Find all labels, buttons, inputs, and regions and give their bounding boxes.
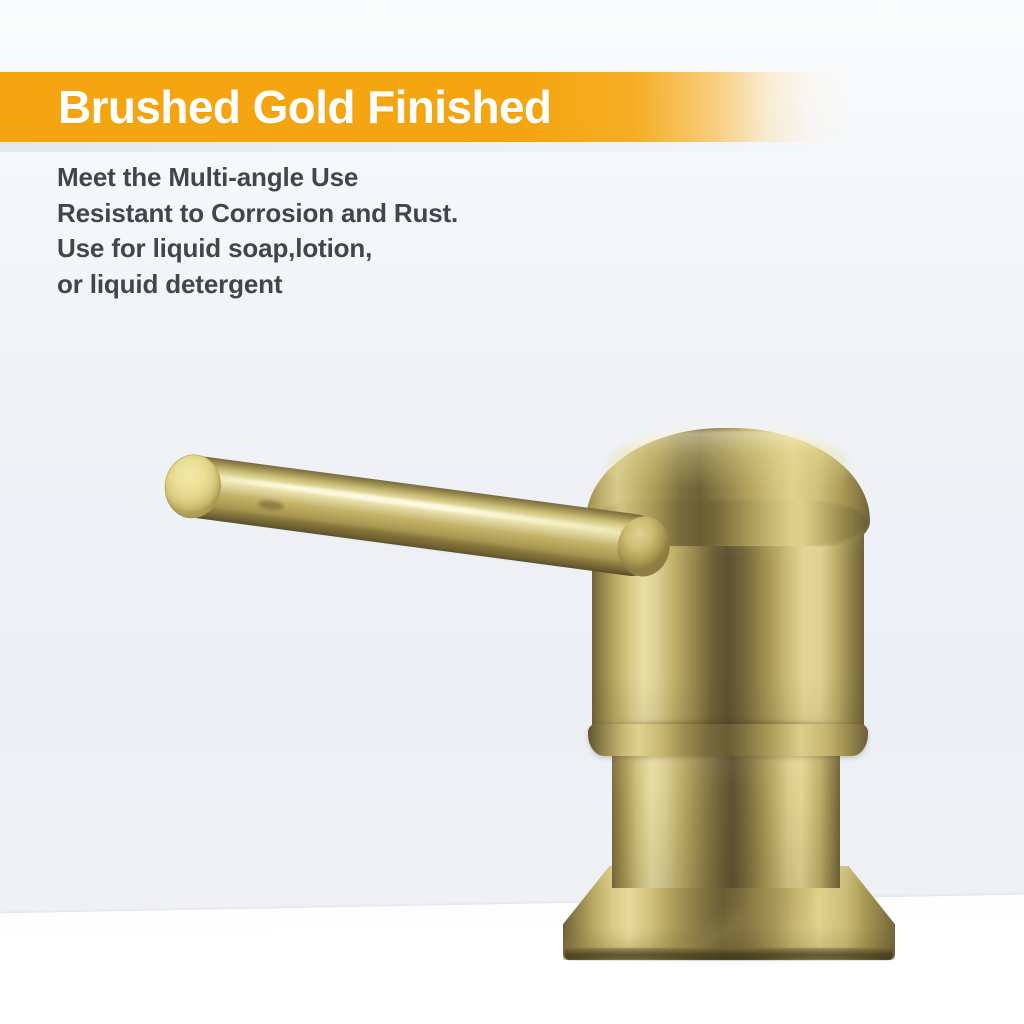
- headline-title: Brushed Gold Finished: [58, 80, 551, 134]
- feature-line: Resistant to Corrosion and Rust.: [57, 196, 458, 232]
- feature-line: Use for liquid soap,lotion,: [57, 231, 458, 267]
- banner-underline-shadow: [0, 142, 1024, 152]
- pump-head-lip: [588, 724, 868, 756]
- dispenser-spout: [164, 452, 668, 580]
- neck-shading: [612, 748, 840, 888]
- base-foot-edge: [565, 948, 893, 960]
- feature-list: Meet the Multi-angle Use Resistant to Co…: [57, 160, 458, 302]
- pump-head-dome-highlight: [606, 430, 850, 490]
- feature-line: Meet the Multi-angle Use: [57, 160, 458, 196]
- feature-line: or liquid detergent: [57, 267, 458, 303]
- product-image-canvas: Brushed Gold Finished Meet the Multi-ang…: [0, 0, 1024, 1024]
- soap-dispenser-product: [0, 0, 1024, 1024]
